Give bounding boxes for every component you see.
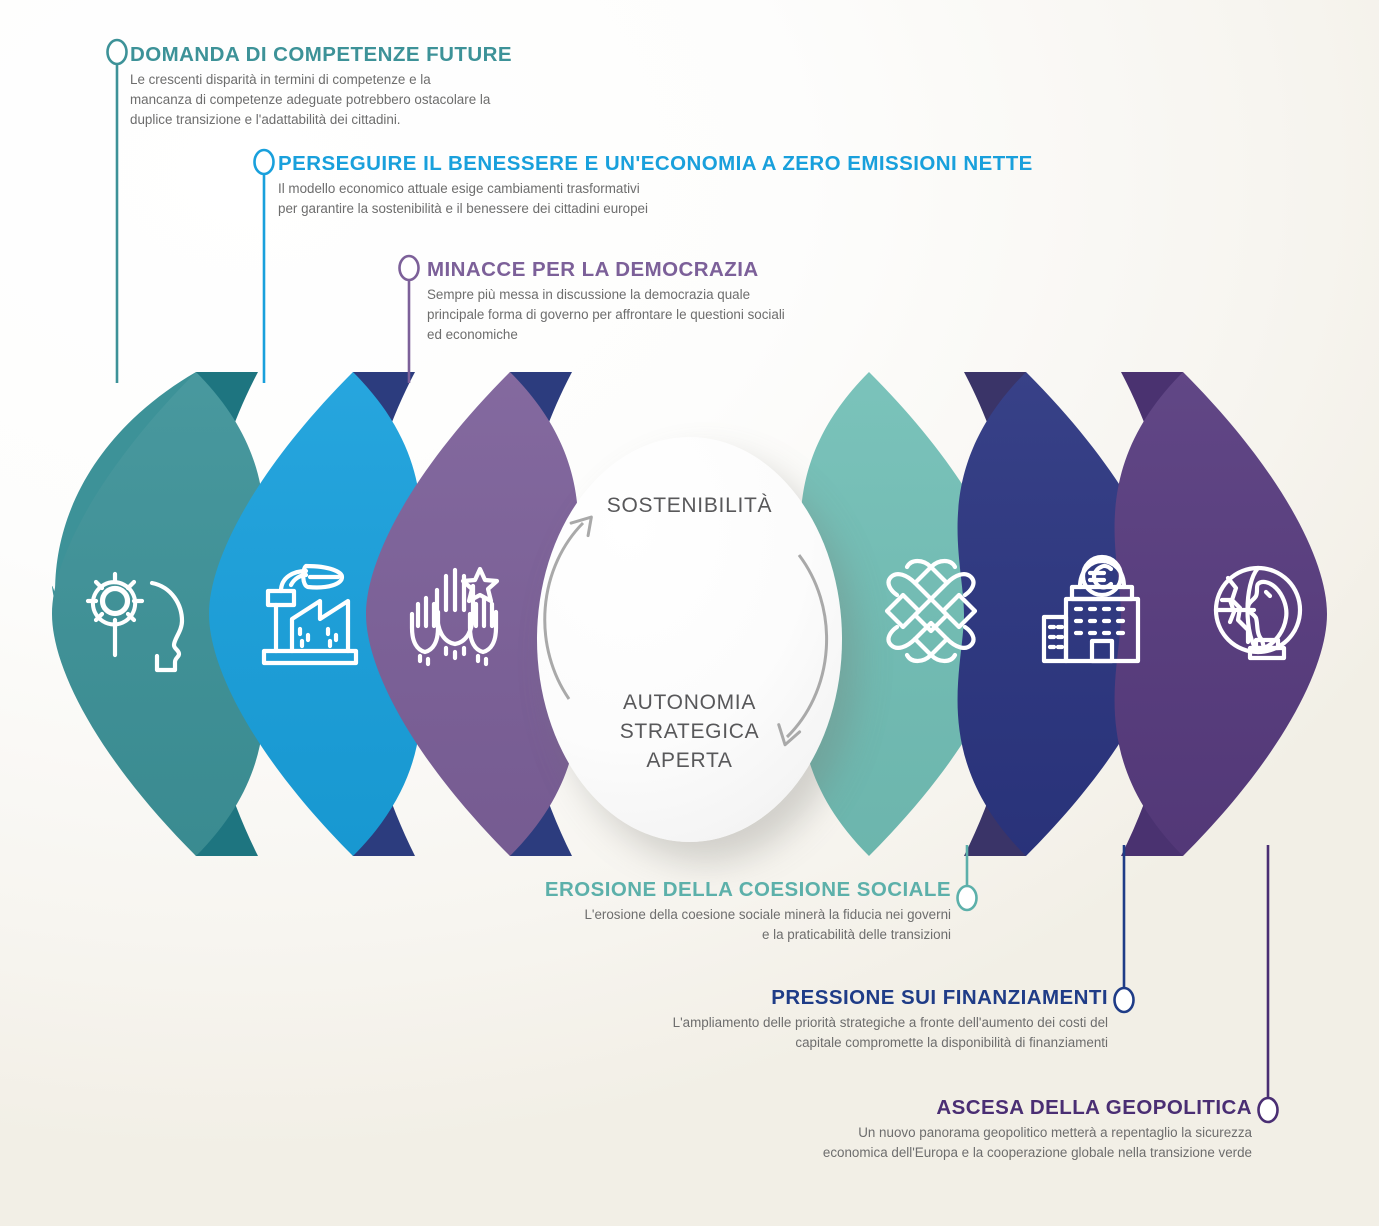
callout-body: L'erosione della coesione sociale minerà… [545,905,951,946]
connector-competenze [108,40,127,383]
callout-benessere-zero-emissioni[interactable]: PERSEGUIRE IL BENESSERE E UN'ECONOMIA A … [278,153,1033,219]
callout-title: MINACCE PER LA DEMOCRAZIA [427,259,785,282]
callout-body: Il modello economico attuale esige cambi… [278,179,1033,220]
callout-erosione-coesione-sociale[interactable]: EROSIONE DELLA COESIONE SOCIALE L'erosio… [545,879,951,945]
callout-body: Le crescenti disparità in termini di com… [130,70,512,131]
callout-pressione-finanziamenti[interactable]: PRESSIONE SUI FINANZIAMENTI L'ampliament… [673,987,1108,1053]
connector-benessere [255,150,274,383]
callout-body: L'ampliamento delle priorità strategiche… [673,1013,1108,1054]
connector-geopolitica [1259,845,1278,1122]
callout-title: EROSIONE DELLA COESIONE SOCIALE [545,879,951,902]
infographic-canvas: SOSTENIBILITÀ AUTONOMIA STRATEGICA APERT… [0,0,1379,1226]
callout-title: DOMANDA DI COMPETENZE FUTURE [130,44,512,67]
callout-title: ASCESA DELLA GEOPOLITICA [823,1097,1252,1120]
callout-domanda-competenze-future[interactable]: DOMANDA DI COMPETENZE FUTURE Le crescent… [130,44,512,131]
callout-ascesa-geopolitica[interactable]: ASCESA DELLA GEOPOLITICA Un nuovo panora… [823,1097,1252,1163]
callout-title: PRESSIONE SUI FINANZIAMENTI [673,987,1108,1010]
callout-body: Un nuovo panorama geopolitico metterà a … [823,1123,1252,1164]
callout-title: PERSEGUIRE IL BENESSERE E UN'ECONOMIA A … [278,153,1033,176]
connector-democrazia [400,256,419,383]
connector-coesione [958,845,977,910]
callout-body: Sempre più messa in discussione la democ… [427,285,785,346]
connector-finanziamenti [1115,845,1134,1012]
callout-minacce-democrazia[interactable]: MINACCE PER LA DEMOCRAZIA Sempre più mes… [427,259,785,346]
